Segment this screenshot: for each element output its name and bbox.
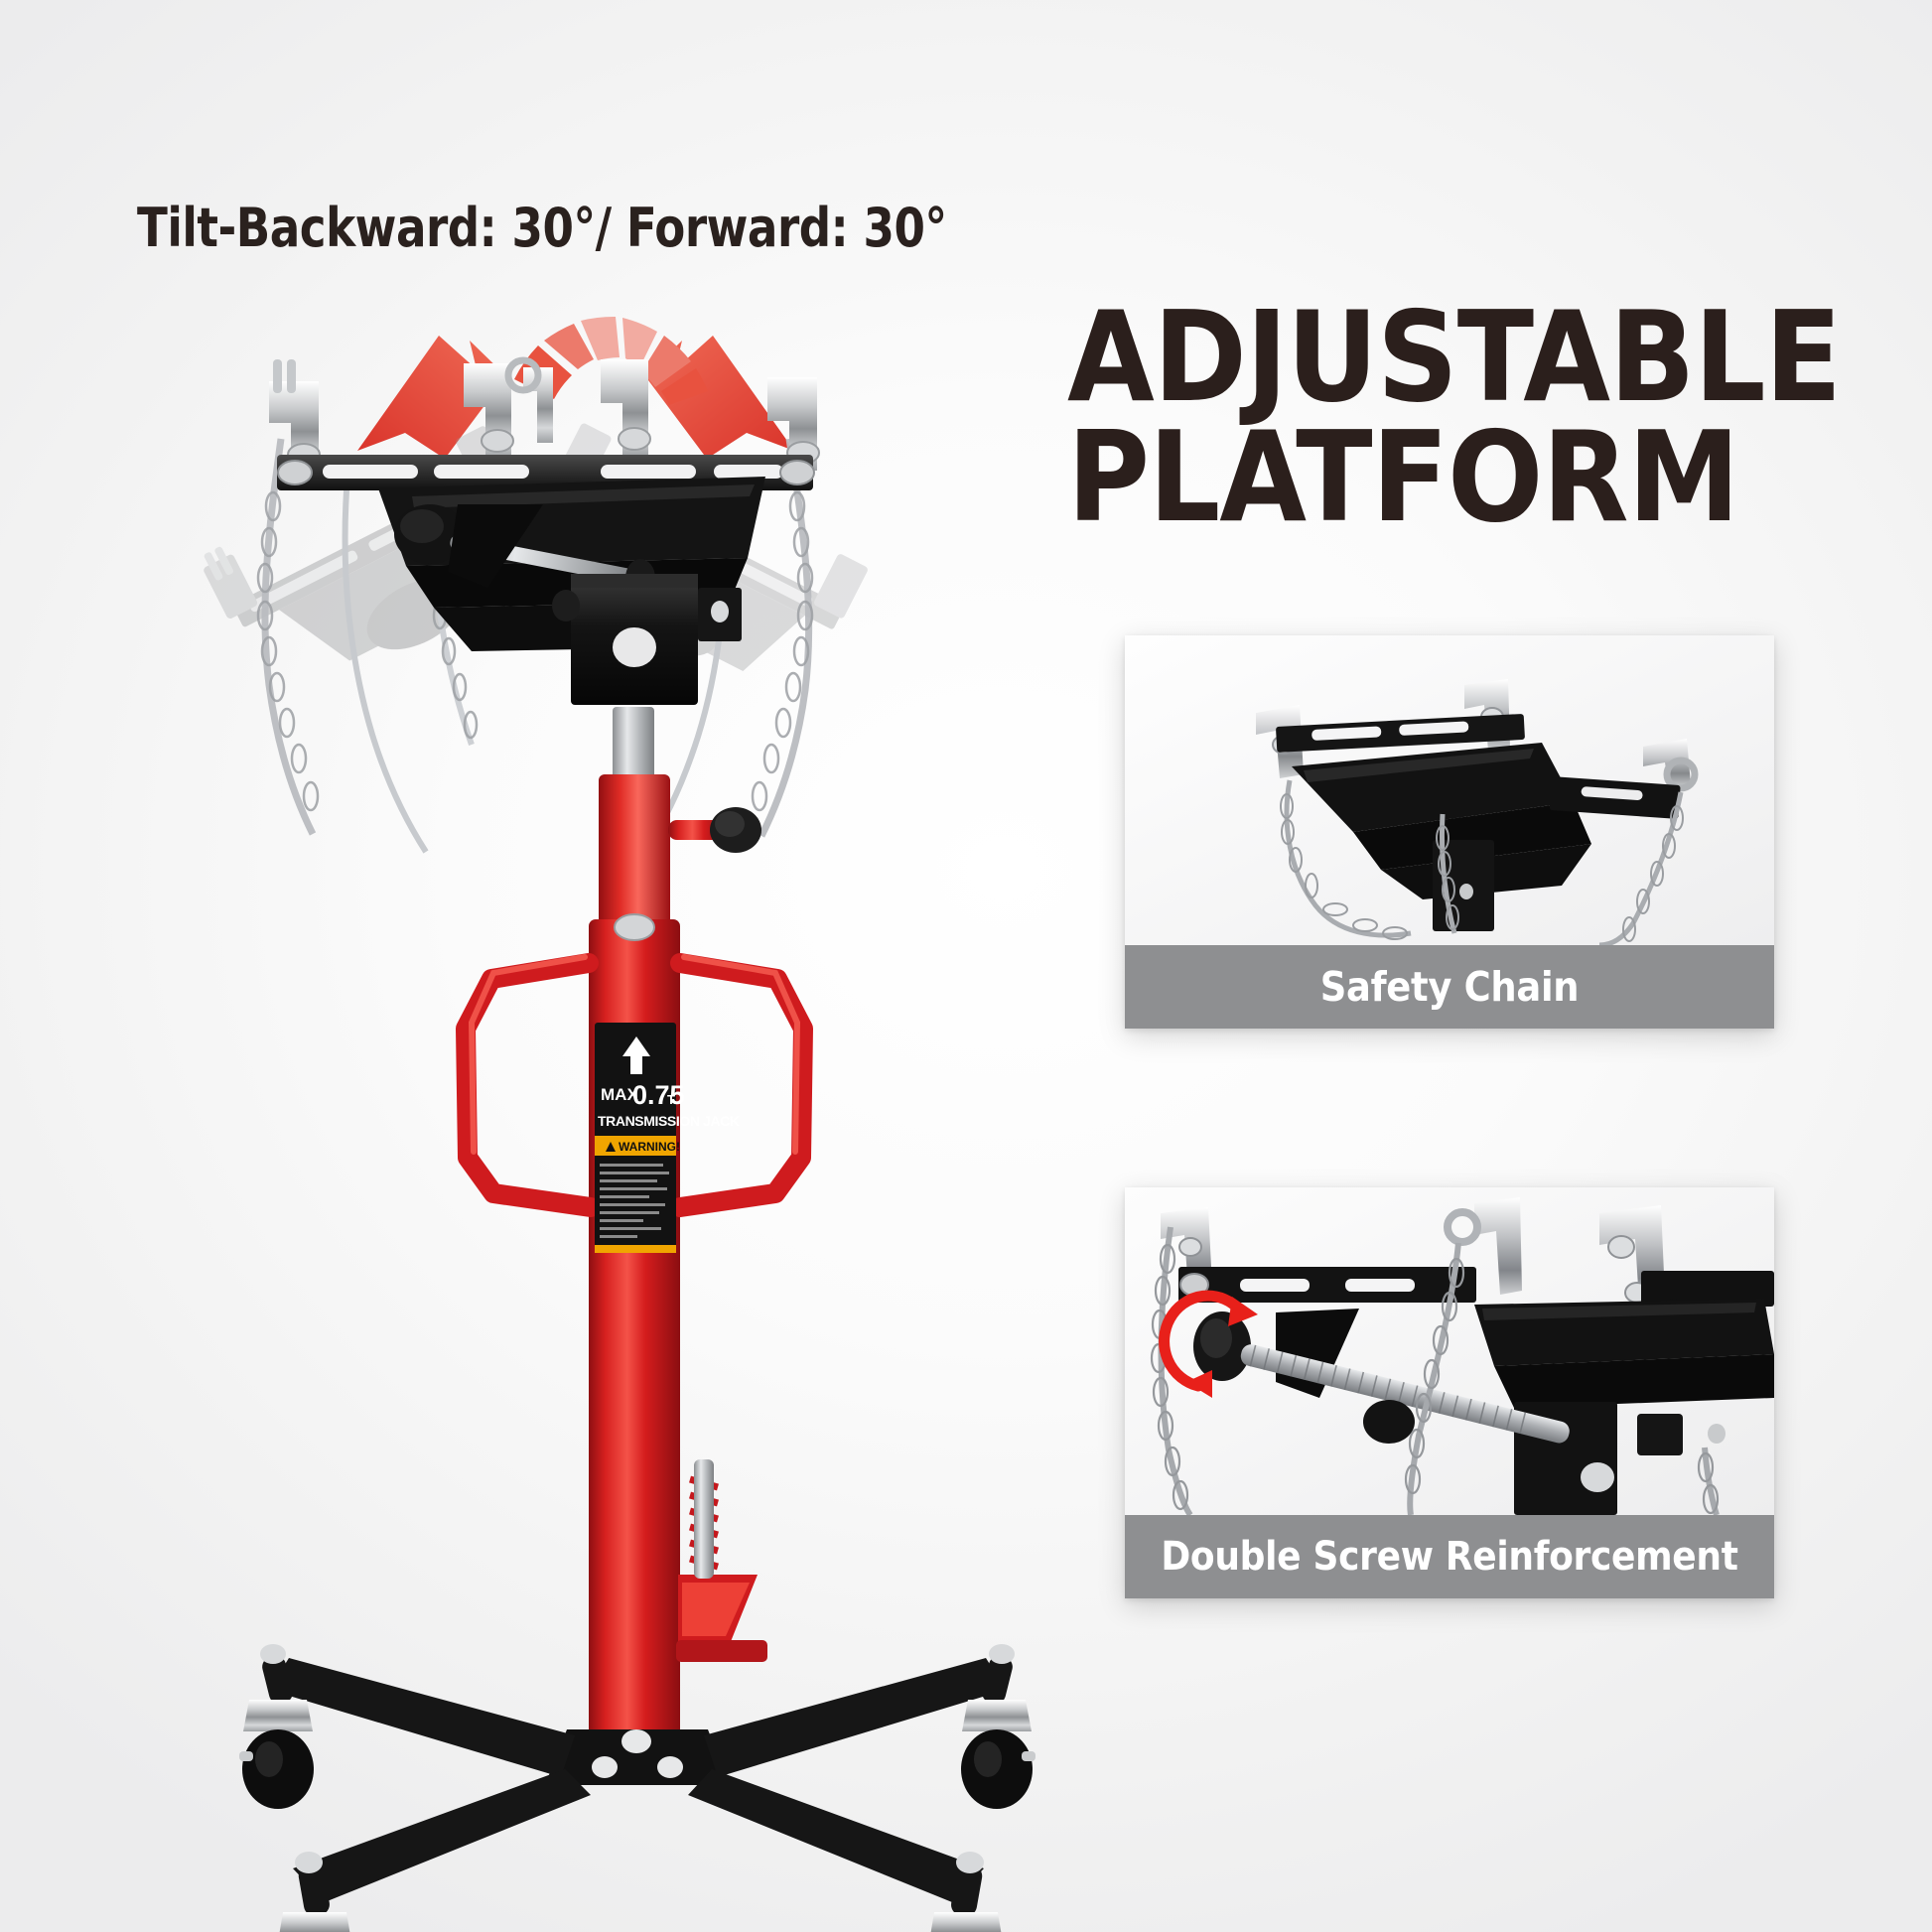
foot-pedal-pump [676,1459,767,1662]
column-upper [599,774,670,933]
height-lock-knob [668,807,761,853]
product-photo-transmission-jack: MAX 0.75 T TRANSMISSION JACK WARNING! [174,328,908,1817]
feature-panel-safety-chain[interactable]: Safety Chain [1125,635,1774,1029]
headline-line-2: PLATFORM [1067,418,1921,538]
page-title: ADJUSTABLE PLATFORM [1067,298,1921,538]
panel-caption-double-screw: Double Screw Reinforcement [1125,1515,1774,1598]
warning-text: WARNING! [619,1140,680,1154]
infographic-canvas: Tilt-Backward: 30°/ Forward: 30° [0,0,1932,1932]
jack-column: MAX 0.75 T TRANSMISSION JACK WARNING! [466,707,803,1783]
safety-chain-photo [1125,635,1774,945]
tilt-angle-caption: Tilt-Backward: 30°/ Forward: 30° [137,197,947,259]
headline-line-1: ADJUSTABLE [1067,298,1921,418]
label-capacity-unit: T [667,1092,675,1107]
chain-hook-center [508,360,553,443]
label-product-name: TRANSMISSION JACK [598,1113,740,1129]
pump-rod [694,1459,714,1579]
product-label: MAX 0.75 T TRANSMISSION JACK WARNING! [595,1023,740,1253]
double-screw-photo [1125,1187,1774,1515]
panel-caption-safety-chain: Safety Chain [1125,945,1774,1029]
label-capacity: 0.75 [632,1080,685,1110]
safety-chain-left [265,439,313,834]
feature-panel-double-screw[interactable]: Double Screw Reinforcement [1125,1187,1774,1598]
caption-text: Double Screw Reinforcement [1161,1534,1737,1580]
caption-text: Safety Chain [1320,963,1580,1011]
